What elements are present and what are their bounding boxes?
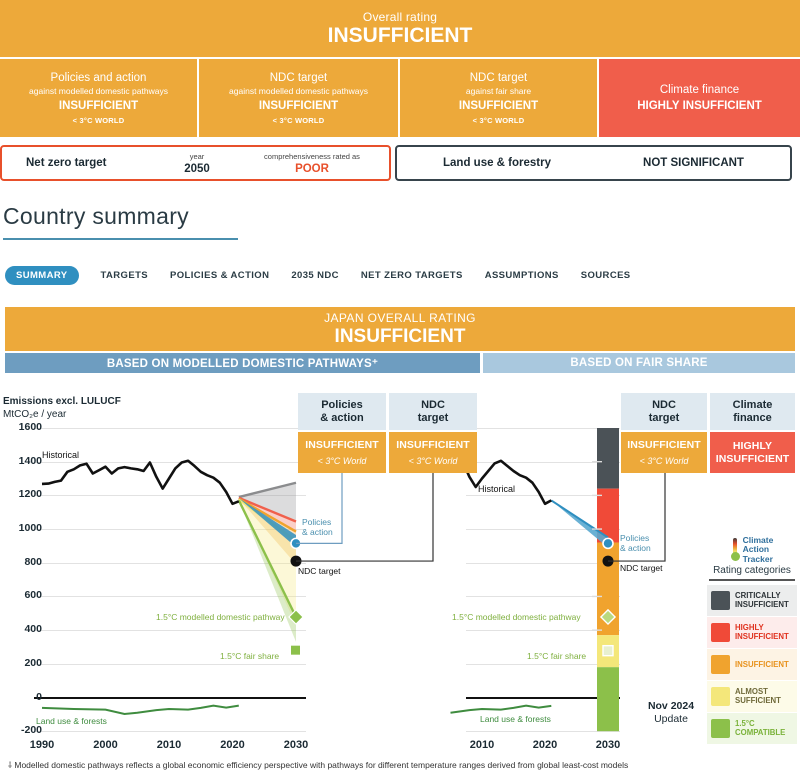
update-stamp: Nov 2024 Update bbox=[634, 700, 708, 726]
legend-swatch bbox=[711, 719, 730, 738]
col-header-line2: & action bbox=[320, 412, 363, 424]
sub-ratings-row: Policies and action against modelled dom… bbox=[0, 59, 800, 137]
sub-rating-policies-and-action[interactable]: Policies and action against modelled dom… bbox=[0, 59, 197, 137]
tab-summary[interactable]: SUMMARY bbox=[5, 266, 79, 285]
overall-rating-banner: Overall rating INSUFFICIENT bbox=[0, 0, 800, 57]
policies-label-line2: & action bbox=[302, 527, 333, 537]
basis-modelled-domestic-pathways: BASED ON MODELLED DOMESTIC PATHWAYS⁺ bbox=[5, 353, 480, 373]
col-world: < 3°C World bbox=[318, 455, 367, 467]
legend-item[interactable]: CRITICALLYINSUFFICIENT bbox=[707, 585, 797, 616]
col-header-line1: Climate bbox=[733, 399, 773, 411]
sub-rating-world: < 3°C WORLD bbox=[73, 115, 125, 126]
left-15c-modelled-pathway-label: 1.5°C modelled domestic pathway bbox=[156, 612, 285, 622]
legend-divider bbox=[709, 579, 795, 581]
overall-rating-value: INSUFFICIENT bbox=[328, 24, 473, 48]
legend-swatch bbox=[711, 655, 730, 674]
legend-item[interactable]: ALMOSTSUFFICIENT bbox=[707, 681, 797, 712]
col-header-line2: target bbox=[649, 412, 680, 424]
right-historical-label: Historical bbox=[478, 484, 515, 494]
net-zero-target-card[interactable]: Net zero target year 2050 comprehensiven… bbox=[0, 145, 391, 181]
overall-rating-label: Overall rating bbox=[363, 10, 437, 24]
japan-overall-rating-banner: JAPAN OVERALL RATING INSUFFICIENT bbox=[5, 307, 795, 351]
y-axis-title: Emissions excl. LULUCF bbox=[3, 396, 121, 407]
sub-rating-ndc-target-modelled[interactable]: NDC target against modelled domestic pat… bbox=[199, 59, 398, 137]
sub-rating-value: INSUFFICIENT bbox=[259, 99, 338, 114]
col-rating-line1: HIGHLY bbox=[733, 440, 772, 453]
col-box-climate-finance[interactable]: HIGHLY INSUFFICIENT bbox=[710, 432, 795, 473]
right-15c-fair-share-label: 1.5°C fair share bbox=[527, 651, 586, 661]
col-world: < 3°C World bbox=[409, 455, 458, 467]
update-word: Update bbox=[634, 713, 708, 726]
japan-rating-value: INSUFFICIENT bbox=[335, 326, 466, 348]
left-policies-action-label: Policies & action bbox=[302, 517, 342, 537]
sub-rating-ndc-target-fair-share[interactable]: NDC target against fair share INSUFFICIE… bbox=[400, 59, 597, 137]
title-underline bbox=[3, 238, 238, 240]
climate-action-tracker-logo: Climate Action Tracker bbox=[707, 536, 797, 564]
legend-item[interactable]: HIGHLYINSUFFICIENT bbox=[707, 617, 797, 648]
left-15c-fair-share-label: 1.5°C fair share bbox=[220, 651, 279, 661]
sub-rating-title: NDC target bbox=[470, 71, 528, 85]
col-header-line2: finance bbox=[733, 412, 772, 424]
col-box-ndc-target-fair-share[interactable]: INSUFFICIENT < 3°C World bbox=[621, 432, 707, 473]
col-header-climate-finance: Climate finance bbox=[710, 393, 795, 430]
sub-rating-value: INSUFFICIENT bbox=[459, 99, 538, 114]
legend-label: HIGHLYINSUFFICIENT bbox=[735, 623, 789, 641]
legend-swatch bbox=[711, 623, 730, 642]
col-header-policies-action: Policies & action bbox=[298, 393, 386, 430]
left-land-use-label: Land use & forests bbox=[36, 716, 107, 726]
net-zero-comprehensiveness: comprehensiveness rated as POOR bbox=[237, 151, 387, 176]
right-policies-action-label: Policies & action bbox=[620, 533, 660, 553]
page-root: Overall rating INSUFFICIENT Policies and… bbox=[0, 0, 800, 779]
sub-rating-value: HIGHLY INSUFFICIENT bbox=[637, 99, 762, 114]
footnote: ⸸ Modelled domestic pathways reflects a … bbox=[8, 760, 628, 771]
col-rating: INSUFFICIENT bbox=[305, 439, 379, 452]
footnote-text: Modelled domestic pathways reflects a gl… bbox=[14, 760, 628, 770]
net-zero-year: year 2050 bbox=[162, 151, 232, 176]
brand-line3: Tracker bbox=[743, 555, 774, 565]
legend-item[interactable]: 1.5°CCOMPATIBLE bbox=[707, 713, 797, 744]
net-zero-year-value: 2050 bbox=[162, 162, 232, 176]
net-zero-comprehensiveness-value: POOR bbox=[237, 162, 387, 176]
legend-item[interactable]: INSUFFICIENT bbox=[707, 649, 797, 680]
left-historical-label: Historical bbox=[42, 450, 79, 460]
thermometer-bulb bbox=[731, 552, 740, 561]
sub-rating-against: against modelled domestic pathways bbox=[229, 85, 368, 97]
legend-label: INSUFFICIENT bbox=[735, 660, 789, 669]
col-rating-line2: INSUFFICIENT bbox=[716, 453, 790, 466]
net-zero-year-caption: year bbox=[162, 151, 232, 162]
col-header-line1: NDC bbox=[421, 399, 445, 411]
legend-title: Rating categories bbox=[707, 565, 797, 576]
sub-rating-world: < 3°C WORLD bbox=[473, 115, 525, 126]
sub-rating-against: against fair share bbox=[466, 85, 531, 97]
col-world: < 3°C World bbox=[640, 455, 689, 467]
tab-policies-action[interactable]: POLICIES & ACTION bbox=[170, 270, 269, 281]
sub-rating-title: Climate finance bbox=[660, 83, 739, 97]
y-axis-units: MtCO₂e / year bbox=[3, 409, 66, 420]
legend-swatch bbox=[711, 591, 730, 610]
legend-swatch bbox=[711, 687, 730, 706]
tab-targets[interactable]: TARGETS bbox=[101, 270, 148, 281]
basis-row: BASED ON MODELLED DOMESTIC PATHWAYS⁺ BAS… bbox=[5, 353, 795, 373]
policies-label-line2: & action bbox=[620, 543, 651, 553]
net-zero-target-label: Net zero target bbox=[26, 157, 107, 169]
sub-rating-title: Policies and action bbox=[51, 71, 147, 85]
brand-text: Climate Action Tracker bbox=[743, 536, 774, 565]
land-use-value: NOT SIGNIFICANT bbox=[643, 157, 744, 169]
basis-fair-share: BASED ON FAIR SHARE bbox=[483, 353, 795, 373]
net-zero-comprehensiveness-caption: comprehensiveness rated as bbox=[237, 151, 387, 162]
sub-rating-climate-finance[interactable]: Climate finance HIGHLY INSUFFICIENT bbox=[599, 59, 800, 137]
tab-assumptions[interactable]: ASSUMPTIONS bbox=[485, 270, 559, 281]
right-ndc-target-label: NDC target bbox=[620, 563, 663, 573]
tab-sources[interactable]: SOURCES bbox=[581, 270, 631, 281]
page-title: Country summary bbox=[3, 203, 189, 230]
policies-label-line1: Policies bbox=[302, 517, 331, 527]
col-header-line2: target bbox=[418, 412, 449, 424]
tab-net-zero-targets[interactable]: NET ZERO TARGETS bbox=[361, 270, 463, 281]
tab-2035-ndc[interactable]: 2035 NDC bbox=[291, 270, 339, 281]
legend-label: 1.5°CCOMPATIBLE bbox=[735, 719, 785, 737]
policies-label-line1: Policies bbox=[620, 533, 649, 543]
col-header-line1: Policies bbox=[321, 399, 363, 411]
land-use-forestry-card[interactable]: Land use & forestry NOT SIGNIFICANT bbox=[395, 145, 792, 181]
sub-rating-title: NDC target bbox=[270, 71, 328, 85]
sub-rating-world: < 3°C WORLD bbox=[273, 115, 325, 126]
col-rating: INSUFFICIENT bbox=[396, 439, 470, 452]
sub-rating-against: against modelled domestic pathways bbox=[29, 85, 168, 97]
right-land-use-label: Land use & forests bbox=[480, 714, 551, 724]
rating-categories-legend: Climate Action Tracker Rating categories… bbox=[707, 536, 797, 745]
japan-rating-label: JAPAN OVERALL RATING bbox=[324, 311, 476, 326]
legend-label: ALMOSTSUFFICIENT bbox=[735, 687, 781, 705]
col-box-ndc-target-modelled[interactable]: INSUFFICIENT < 3°C World bbox=[389, 432, 477, 473]
col-rating: INSUFFICIENT bbox=[627, 439, 701, 452]
update-date: Nov 2024 bbox=[634, 700, 708, 713]
col-box-policies-action[interactable]: INSUFFICIENT < 3°C World bbox=[298, 432, 386, 473]
col-header-ndc-target-fair-share: NDC target bbox=[621, 393, 707, 430]
net-zero-land-use-row: Net zero target year 2050 comprehensiven… bbox=[0, 145, 800, 181]
col-header-ndc-target-modelled: NDC target bbox=[389, 393, 477, 430]
right-15c-modelled-pathway-label: 1.5°C modelled domestic pathway bbox=[452, 612, 581, 622]
land-use-label: Land use & forestry bbox=[443, 157, 551, 169]
legend-rows: CRITICALLYINSUFFICIENTHIGHLYINSUFFICIENT… bbox=[707, 585, 797, 744]
tab-bar: SUMMARY TARGETS POLICIES & ACTION 2035 N… bbox=[5, 266, 653, 285]
left-ndc-target-label: NDC target bbox=[298, 566, 341, 576]
thermometer-icon bbox=[731, 538, 740, 562]
footnote-marker: ⸸ bbox=[8, 760, 12, 770]
col-header-line1: NDC bbox=[652, 399, 676, 411]
legend-label: CRITICALLYINSUFFICIENT bbox=[735, 591, 789, 609]
sub-rating-value: INSUFFICIENT bbox=[59, 99, 138, 114]
